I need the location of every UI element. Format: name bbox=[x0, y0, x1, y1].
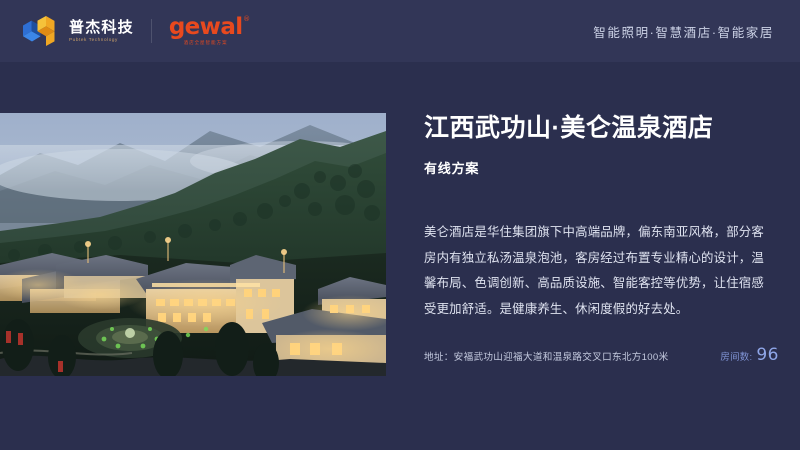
slide-root: 普杰科技 Pubtek Technology gewal® 酒店全屋智能方案 智… bbox=[0, 0, 800, 450]
brand-pubtek: 普杰科技 Pubtek Technology bbox=[69, 20, 134, 43]
page-subtitle: 有线方案 bbox=[424, 158, 776, 177]
room-count-value: 96 bbox=[756, 345, 779, 365]
brand-gewal: gewal® 酒店全屋智能方案 bbox=[169, 16, 243, 45]
brand-divider bbox=[151, 19, 152, 43]
room-count-label: 房间数: bbox=[720, 349, 752, 363]
brand-pubtek-cn: 普杰科技 bbox=[69, 20, 134, 35]
brand-gewal-wordmark: gewal® bbox=[169, 16, 243, 39]
brand-gewal-text: gewal bbox=[169, 14, 243, 40]
brand-cluster: 普杰科技 Pubtek Technology gewal® 酒店全屋智能方案 bbox=[0, 16, 243, 46]
registered-trademark-icon: ® bbox=[243, 16, 249, 23]
address-text: 地址：安福武功山迎福大道和温泉路交叉口东北方100米 bbox=[424, 349, 668, 363]
meta-row: 地址：安福武功山迎福大道和温泉路交叉口东北方100米 房间数: 96 bbox=[424, 345, 779, 365]
brand-gewal-sub: 酒店全屋智能方案 bbox=[169, 41, 243, 45]
header-bar: 普杰科技 Pubtek Technology gewal® 酒店全屋智能方案 智… bbox=[0, 0, 800, 62]
header-tagline: 智能照明·智慧酒店·智能家居 bbox=[593, 22, 800, 41]
content-column: 江西武功山·美仑温泉酒店 有线方案 美仑酒店是华住集团旗下中高端品牌，偏东南亚风… bbox=[424, 113, 776, 322]
resort-night-view-photo bbox=[0, 113, 386, 376]
brand-pubtek-en: Pubtek Technology bbox=[69, 38, 134, 43]
room-count: 房间数: 96 bbox=[720, 345, 779, 365]
cube-logo-icon bbox=[22, 16, 56, 46]
page-title: 江西武功山·美仑温泉酒店 bbox=[424, 113, 776, 144]
description-paragraph: 美仑酒店是华住集团旗下中高端品牌，偏东南亚风格，部分客房内有独立私汤温泉泡池，客… bbox=[424, 220, 764, 322]
